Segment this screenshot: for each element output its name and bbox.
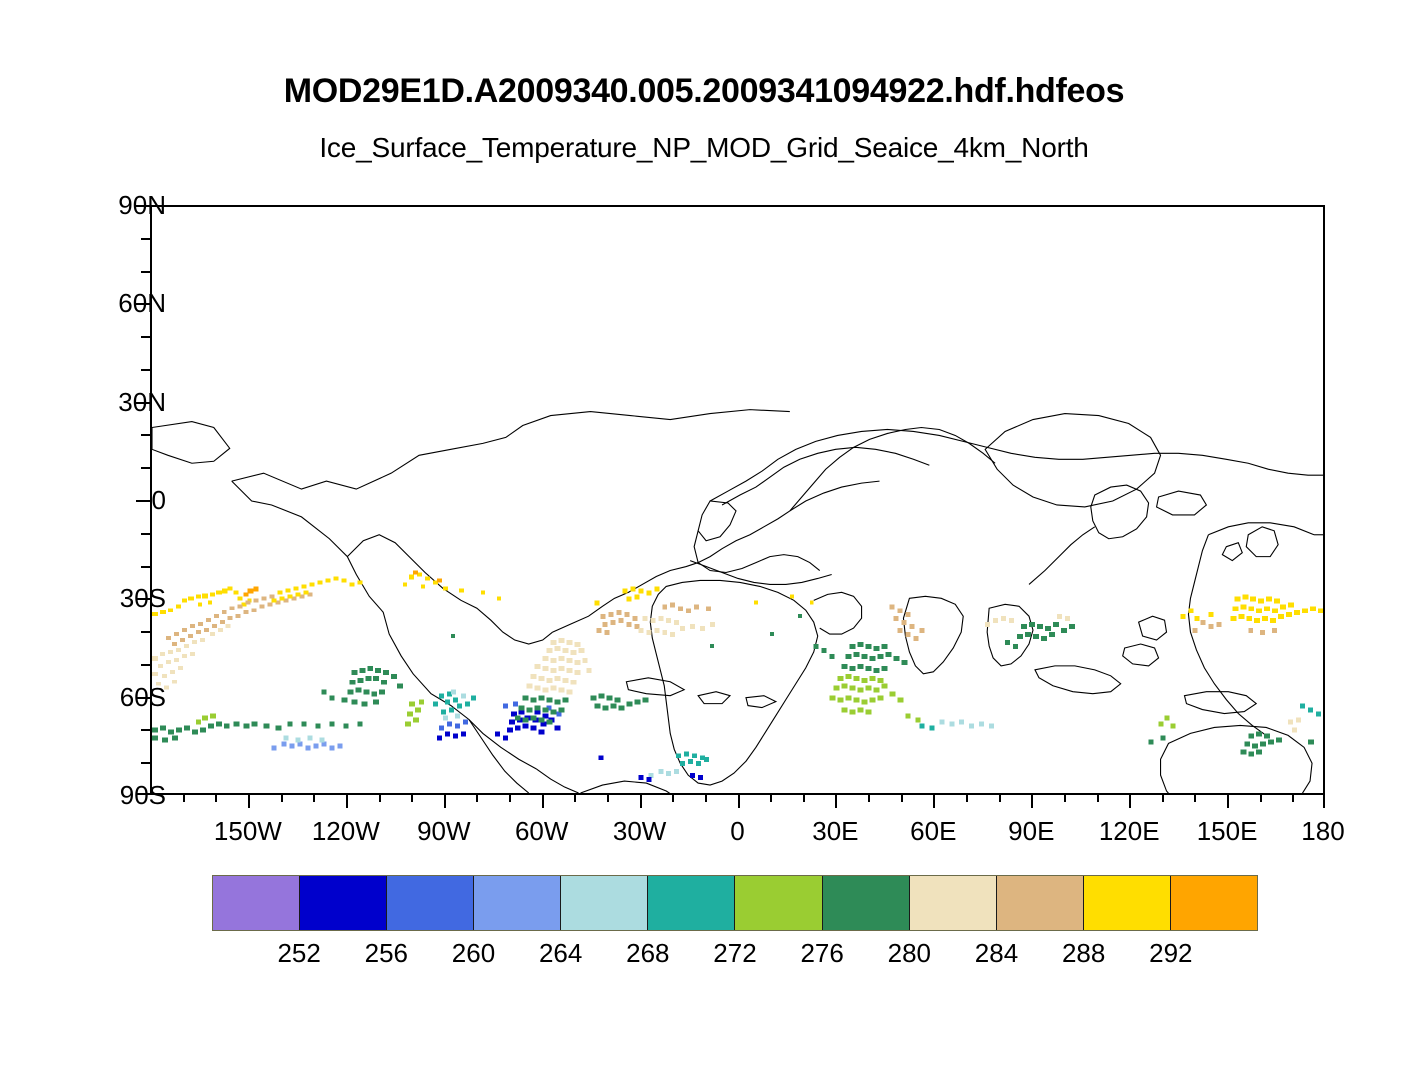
xtick-180 <box>1323 793 1325 808</box>
xtick-minor <box>281 793 283 802</box>
y-axis-label-30S: 30S <box>56 585 166 611</box>
x-axis-label-180: 180 <box>1253 818 1393 844</box>
colorbar-cell-3 <box>474 876 561 930</box>
page-title: MOD29E1D.A2009340.005.2009341094922.hdf.… <box>0 72 1408 111</box>
colorbar-labels: 252256260264268272276280284288292 <box>212 938 1258 972</box>
xtick-90W <box>444 793 446 808</box>
xtick-30W <box>640 793 642 808</box>
xtick-minor <box>183 793 185 802</box>
colorbar-cell-1 <box>300 876 387 930</box>
xtick-minor <box>901 793 903 802</box>
xtick-minor <box>803 793 805 802</box>
xtick-minor <box>574 793 576 802</box>
ytick-minor <box>141 762 150 764</box>
colorbar-cell-4 <box>561 876 648 930</box>
xtick-minor <box>215 793 217 802</box>
colorbar-cell-2 <box>387 876 474 930</box>
y-axis-label-30N: 30N <box>56 389 166 415</box>
xtick-minor <box>1194 793 1196 802</box>
ytick-minor <box>141 238 150 240</box>
xtick-minor <box>999 793 1001 802</box>
colorbar-cell-6 <box>735 876 822 930</box>
colorbar-cell-8 <box>910 876 997 930</box>
xtick-minor <box>705 793 707 802</box>
xtick-90E <box>1031 793 1033 808</box>
xtick-minor <box>313 793 315 802</box>
ytick-minor <box>141 631 150 633</box>
y-axis-label-60N: 60N <box>56 290 166 316</box>
colorbar-cell-9 <box>997 876 1084 930</box>
ytick-minor <box>141 533 150 535</box>
y-axis-label-90N: 90N <box>56 192 166 218</box>
page-subtitle: Ice_Surface_Temperature_NP_MOD_Grid_Seai… <box>0 132 1408 164</box>
xtick-minor <box>1260 793 1262 802</box>
xtick-minor <box>1064 793 1066 802</box>
colorbar-cell-11 <box>1171 876 1257 930</box>
xtick-120E <box>1129 793 1131 808</box>
xtick-minor <box>411 793 413 802</box>
ytick-minor <box>141 467 150 469</box>
xtick-minor <box>509 793 511 802</box>
xtick-minor <box>1292 793 1294 802</box>
xtick-minor <box>770 793 772 802</box>
ytick-minor <box>141 271 150 273</box>
xtick-minor <box>1097 793 1099 802</box>
ytick-minor <box>141 434 150 436</box>
xtick-0 <box>738 793 740 808</box>
xtick-120W <box>346 793 348 808</box>
xtick-60E <box>933 793 935 808</box>
ytick-minor <box>141 566 150 568</box>
xtick-150E <box>1227 793 1229 808</box>
colorbar <box>212 875 1258 931</box>
xtick-30E <box>835 793 837 808</box>
xtick-minor <box>379 793 381 802</box>
xtick-minor <box>966 793 968 802</box>
plot-canvas: MOD29E1D.A2009340.005.2009341094922.hdf.… <box>0 0 1408 1088</box>
xtick-minor <box>868 793 870 802</box>
colorbar-cell-0 <box>213 876 300 930</box>
xtick-minor <box>476 793 478 802</box>
y-axis-label-0: 0 <box>56 487 166 513</box>
colorbar-label-292: 292 <box>1111 938 1231 968</box>
colorbar-cell-7 <box>823 876 910 930</box>
xtick-minor <box>1162 793 1164 802</box>
ytick-minor <box>141 369 150 371</box>
xtick-150W <box>248 793 250 808</box>
ytick-minor <box>141 729 150 731</box>
colorbar-cell-10 <box>1084 876 1171 930</box>
ytick-minor <box>141 336 150 338</box>
colorbar-cell-5 <box>648 876 735 930</box>
y-axis-ticks <box>150 205 1325 795</box>
xtick-minor <box>607 793 609 802</box>
x-axis-ticks <box>150 795 1325 815</box>
xtick-minor <box>672 793 674 802</box>
ytick-minor <box>141 664 150 666</box>
xtick-60W <box>542 793 544 808</box>
y-axis-label-60S: 60S <box>56 684 166 710</box>
